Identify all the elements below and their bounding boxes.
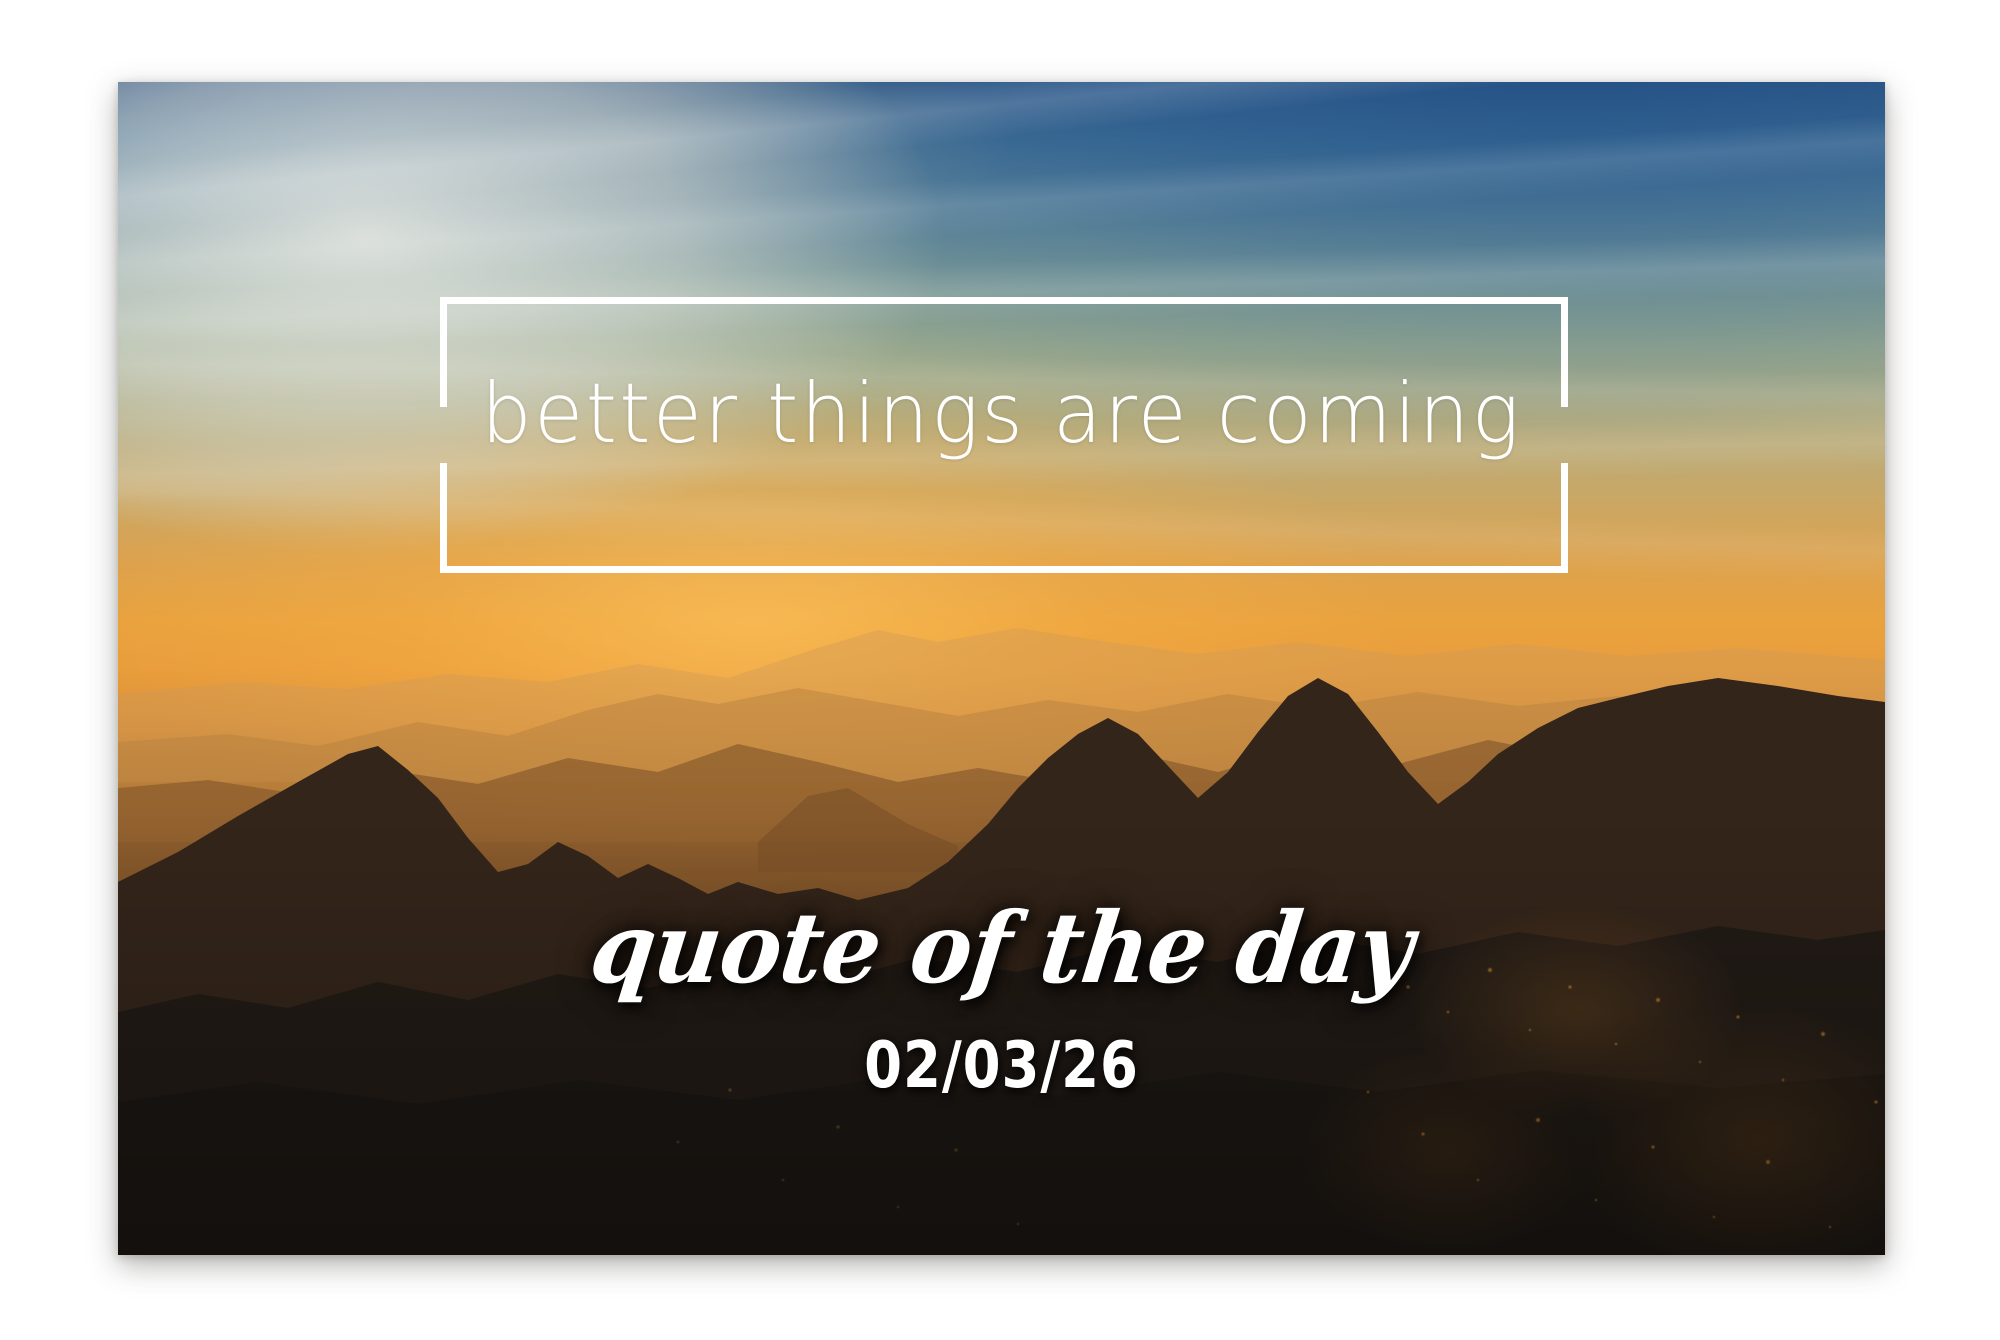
quote-of-the-day-caption: quote of the day [118,899,1885,997]
date-stamp: 02/03/26 [224,1033,1779,1097]
quote-card: better things are coming quote of the da… [118,82,1885,1255]
quote-headline: better things are coming [153,372,1849,455]
page-canvas: better things are coming quote of the da… [0,0,2000,1340]
